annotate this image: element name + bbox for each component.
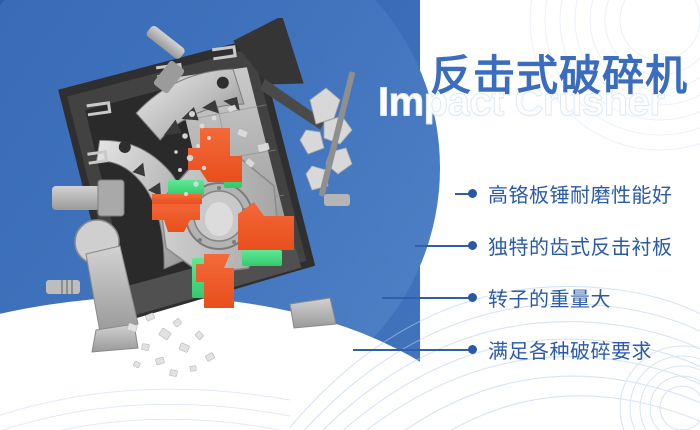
feature-list: 高铬板锤耐磨性能好 独特的齿式反击衬板 转子的重量大 满足各种破碎要求	[0, 0, 700, 430]
connector-line	[455, 193, 469, 195]
connector-line	[382, 297, 469, 299]
bullet-dot	[468, 293, 477, 302]
feature-label-2: 独特的齿式反击衬板	[488, 231, 673, 260]
bullet-dot	[468, 189, 477, 198]
bullet-dot	[468, 241, 477, 250]
feature-label-1: 高铬板锤耐磨性能好	[488, 179, 673, 208]
bullet-dot	[468, 345, 477, 354]
connector-line	[353, 349, 469, 351]
feature-label-4: 满足各种破碎要求	[488, 335, 652, 364]
product-banner: Impact Crusher 反击式破碎机 高铬板锤耐磨性能好 独特的齿式反击衬…	[0, 0, 700, 430]
feature-label-3: 转子的重量大	[488, 283, 611, 312]
connector-line	[415, 245, 469, 247]
